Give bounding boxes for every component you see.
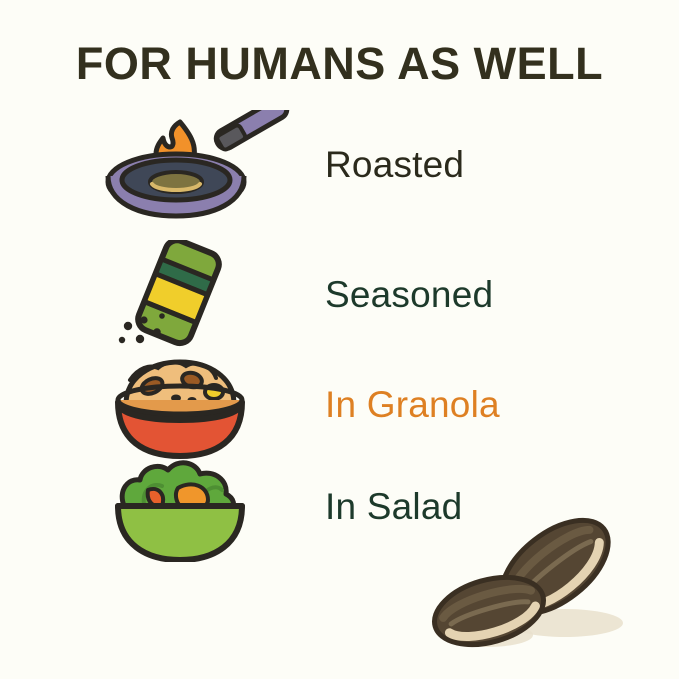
row-granola: In Granola [0,350,679,460]
infographic-poster: FOR HUMANS AS WELL Roasted [0,0,679,679]
page-title: FOR HUMANS AS WELL [0,40,679,87]
row-label-seasoned: Seasoned [325,240,493,350]
row-label-granola: In Granola [325,350,500,460]
salad-bowl-icon [100,452,300,562]
seasoning-shaker-icon [100,240,300,350]
frying-pan-with-flame-icon [100,110,300,220]
granola-bowl-icon [100,350,300,460]
row-roasted: Roasted [0,110,679,220]
row-seasoned: Seasoned [0,240,679,350]
sunflower-seeds-illustration [415,505,665,665]
row-label-roasted: Roasted [325,110,464,220]
